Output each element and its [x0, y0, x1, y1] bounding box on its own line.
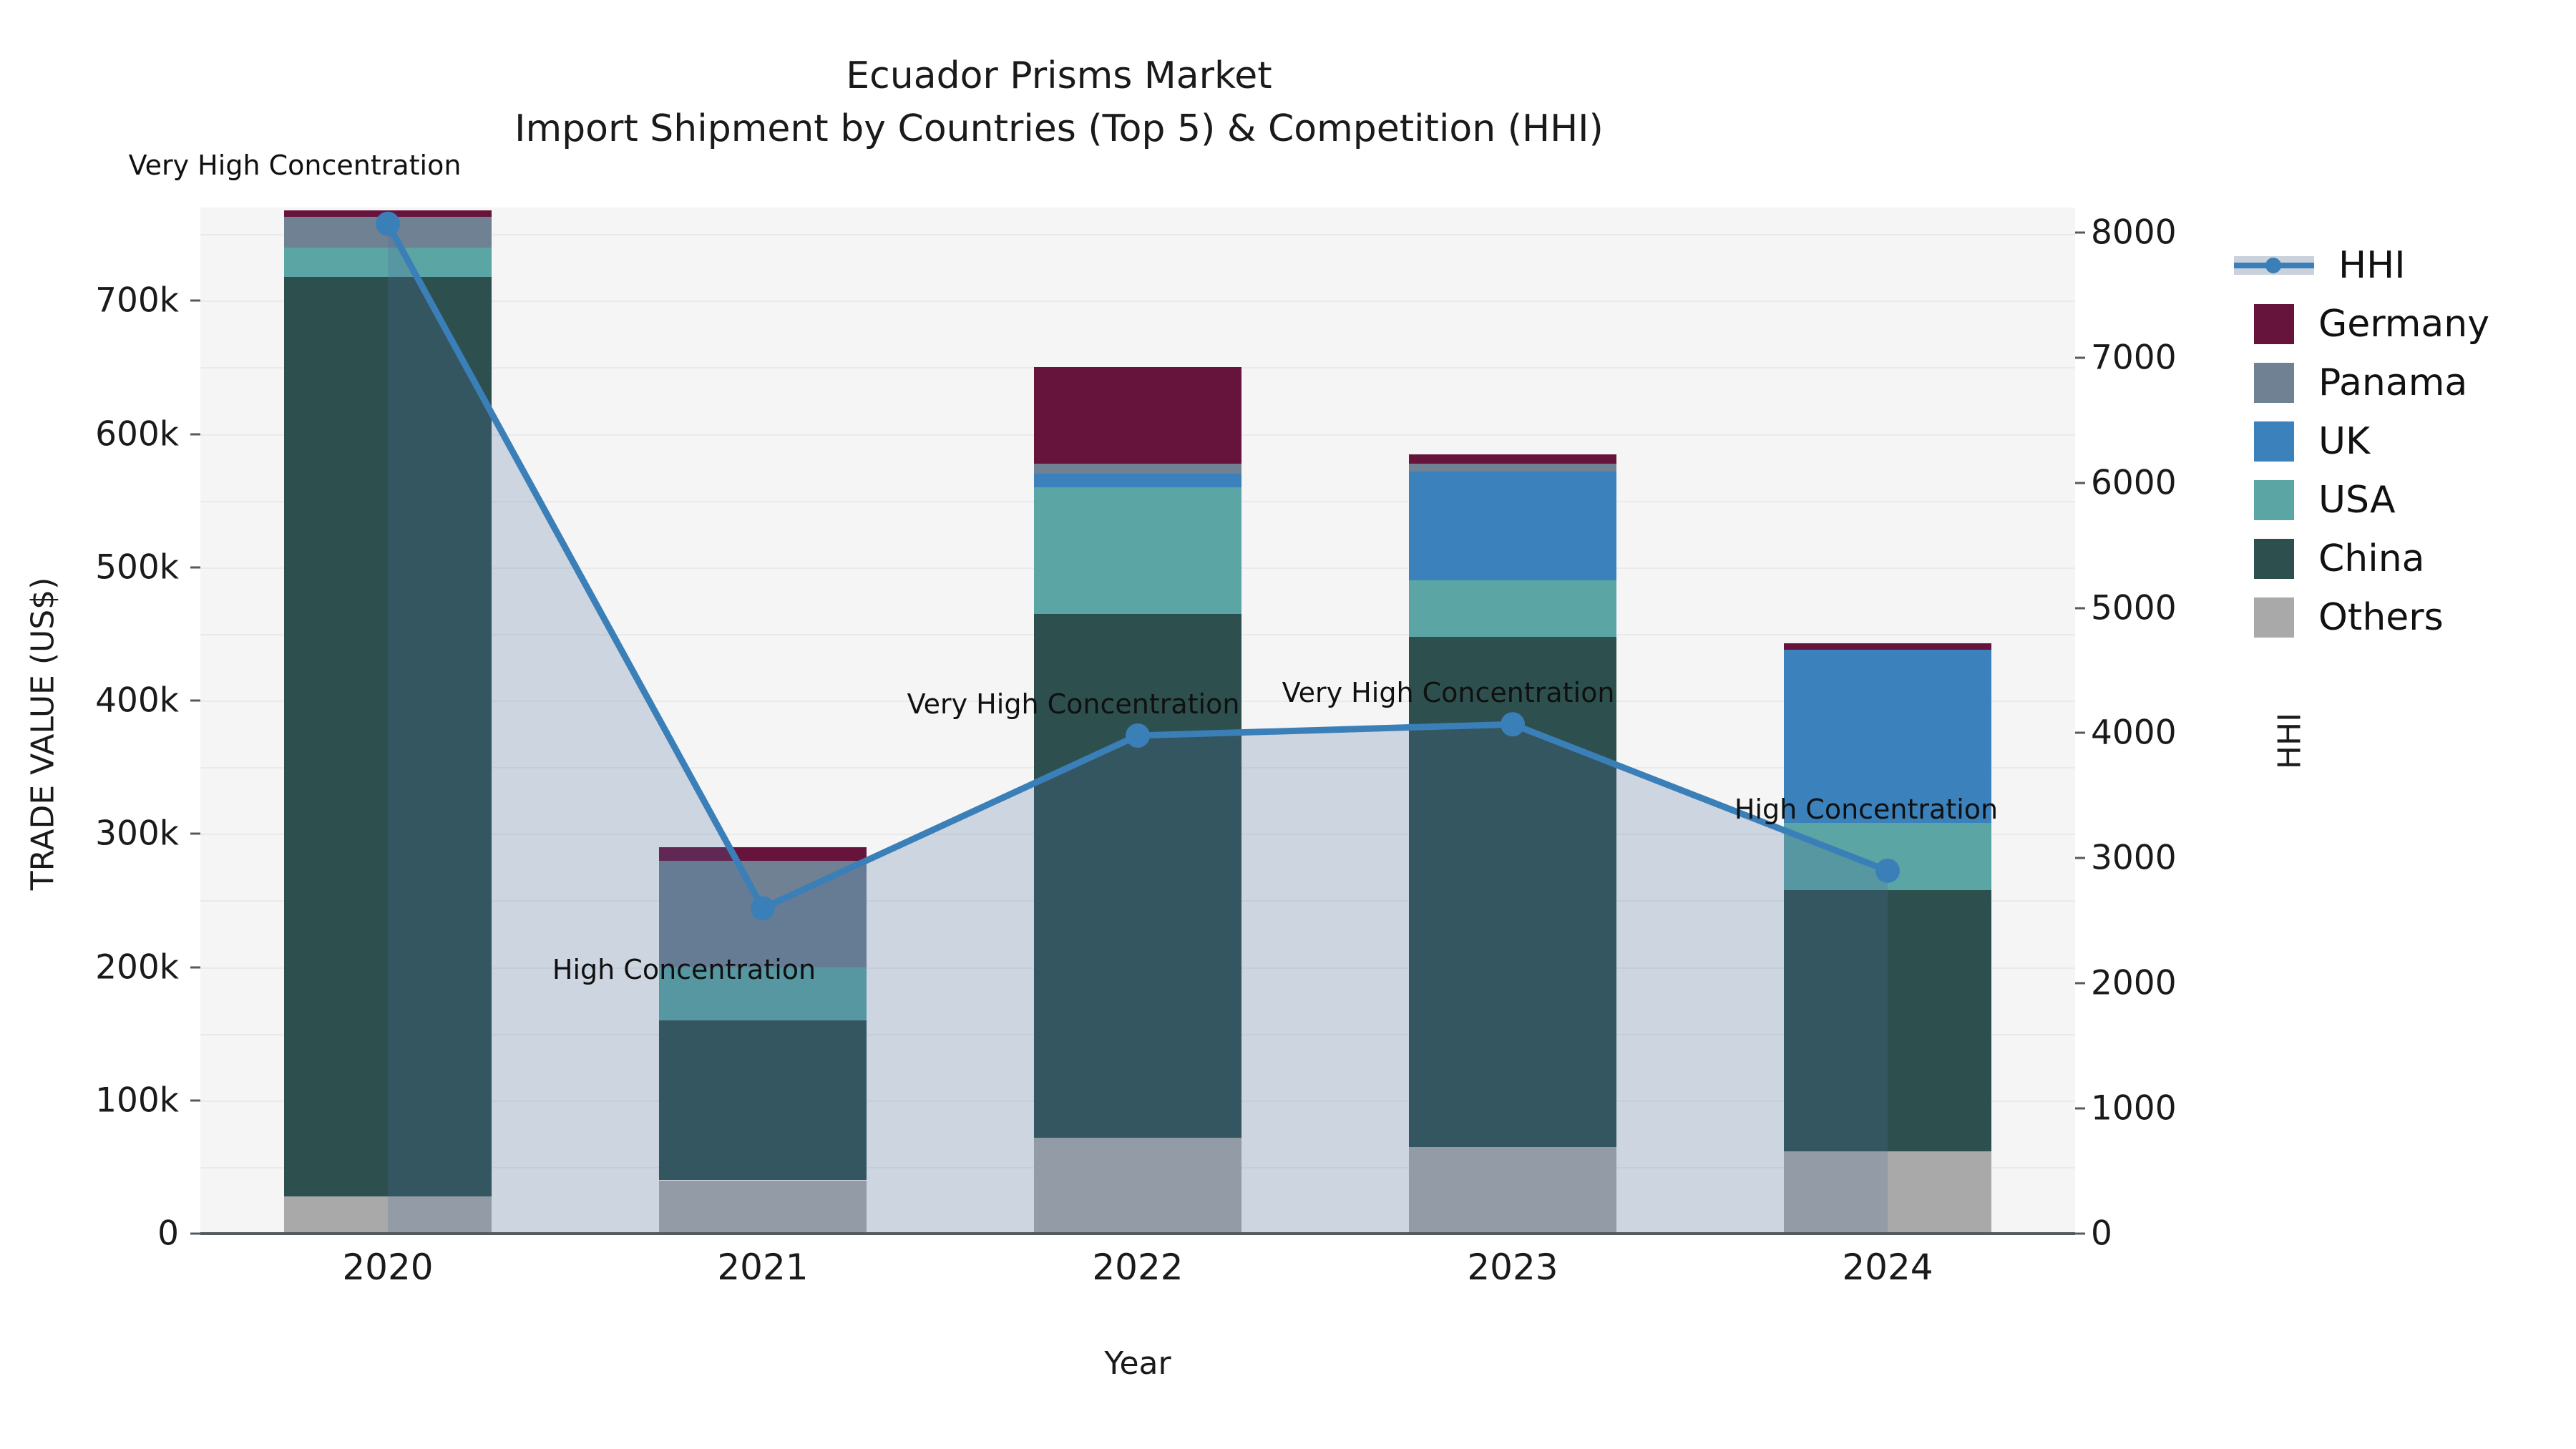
x-axis-tick-label: 2020 — [245, 1246, 531, 1288]
x-axis-tick-label: 2023 — [1370, 1246, 1656, 1288]
y-axis-left-tick-mark — [190, 300, 200, 302]
legend-color-swatch — [2254, 304, 2294, 344]
y-axis-left-tick-mark — [190, 833, 200, 835]
y-axis-left-tick-mark — [190, 966, 200, 968]
legend-item-label: Others — [2318, 596, 2444, 639]
concentration-annotation: Very High Concentration — [129, 150, 462, 181]
legend-color-swatch — [2254, 539, 2294, 579]
y-axis-right-tick-mark — [2075, 857, 2085, 859]
y-axis-left-tick-mark — [190, 1099, 200, 1101]
y-axis-left-tick-mark — [190, 1233, 200, 1235]
hhi-data-point — [376, 212, 400, 236]
y-axis-left-tick-mark — [190, 700, 200, 702]
y-axis-right-tick-mark — [2075, 231, 2085, 233]
y-axis-right-tick-label: 7000 — [2091, 338, 2277, 377]
legend: HHIGermanyPanamaUKUSAChinaOthers — [2254, 236, 2489, 647]
x-axis-tick-label: 2024 — [1745, 1246, 2031, 1288]
legend-item-label: HHI — [2338, 244, 2406, 287]
legend-item[interactable]: HHI — [2254, 236, 2489, 295]
x-axis-tick-label: 2022 — [995, 1246, 1281, 1288]
legend-item-label: Germany — [2318, 303, 2489, 346]
y-axis-right-tick-label: 6000 — [2091, 463, 2277, 502]
concentration-annotation: High Concentration — [1735, 794, 1998, 825]
concentration-annotation: Very High Concentration — [907, 688, 1240, 720]
chart-canvas: Ecuador Prisms Market Import Shipment by… — [0, 0, 2576, 1449]
y-axis-right-tick-mark — [2075, 356, 2085, 358]
y-axis-right-tick-label: 3000 — [2091, 839, 2277, 878]
legend-item[interactable]: UK — [2254, 412, 2489, 471]
legend-item-label: UK — [2318, 420, 2370, 463]
y-axis-left-tick-label: 100k — [7, 1080, 179, 1120]
concentration-annotation: High Concentration — [552, 954, 816, 985]
hhi-data-point — [751, 896, 775, 920]
plot-area: Very High ConcentrationHigh Concentratio… — [200, 208, 2075, 1234]
y-axis-right-tick-mark — [2075, 482, 2085, 484]
chart-title: Ecuador Prisms Market Import Shipment by… — [0, 50, 2118, 156]
hhi-overlay — [200, 208, 2075, 1234]
legend-item[interactable]: China — [2254, 530, 2489, 588]
legend-item-label: USA — [2318, 479, 2396, 522]
y-axis-left-tick-mark — [190, 566, 200, 568]
y-axis-left-tick-label: 700k — [7, 281, 179, 321]
legend-color-swatch — [2254, 597, 2294, 638]
legend-item[interactable]: USA — [2254, 471, 2489, 530]
y-axis-right-tick-label: 5000 — [2091, 588, 2277, 628]
y-axis-right-tick-mark — [2075, 607, 2085, 609]
y-axis-right-tick-label: 4000 — [2091, 713, 2277, 753]
legend-item[interactable]: Others — [2254, 588, 2489, 647]
x-axis-label: Year — [200, 1345, 2075, 1382]
y-axis-left-tick-label: 600k — [7, 414, 179, 454]
legend-line-swatch — [2234, 256, 2314, 275]
legend-item-label: Panama — [2318, 361, 2467, 404]
y-axis-right-tick-mark — [2075, 982, 2085, 985]
y-axis-right-tick-label: 1000 — [2091, 1089, 2277, 1128]
legend-item[interactable]: Germany — [2254, 295, 2489, 353]
legend-item-label: China — [2318, 537, 2425, 580]
y-axis-left-label: TRADE VALUE (US$) — [25, 484, 62, 985]
hhi-data-point — [1875, 859, 1900, 883]
x-axis-tick-label: 2021 — [620, 1246, 906, 1288]
y-axis-right-tick-mark — [2075, 732, 2085, 734]
hhi-data-point — [1501, 712, 1525, 736]
hhi-data-point — [1126, 723, 1150, 748]
y-axis-right-tick-mark — [2075, 1108, 2085, 1110]
chart-title-line-2: Import Shipment by Countries (Top 5) & C… — [0, 103, 2118, 156]
y-axis-left-tick-label: 0 — [7, 1214, 179, 1254]
y-axis-right-tick-label: 2000 — [2091, 964, 2277, 1003]
legend-color-swatch — [2254, 363, 2294, 403]
y-axis-right-tick-label: 0 — [2091, 1214, 2277, 1254]
y-axis-right-tick-label: 8000 — [2091, 213, 2277, 252]
legend-color-swatch — [2254, 480, 2294, 520]
y-axis-right-tick-mark — [2075, 1233, 2085, 1235]
legend-item[interactable]: Panama — [2254, 353, 2489, 412]
legend-color-swatch — [2254, 421, 2294, 462]
x-axis-spine — [200, 1232, 2075, 1235]
concentration-annotation: Very High Concentration — [1282, 677, 1615, 708]
chart-title-line-1: Ecuador Prisms Market — [0, 50, 2118, 103]
y-axis-left-tick-mark — [190, 433, 200, 435]
